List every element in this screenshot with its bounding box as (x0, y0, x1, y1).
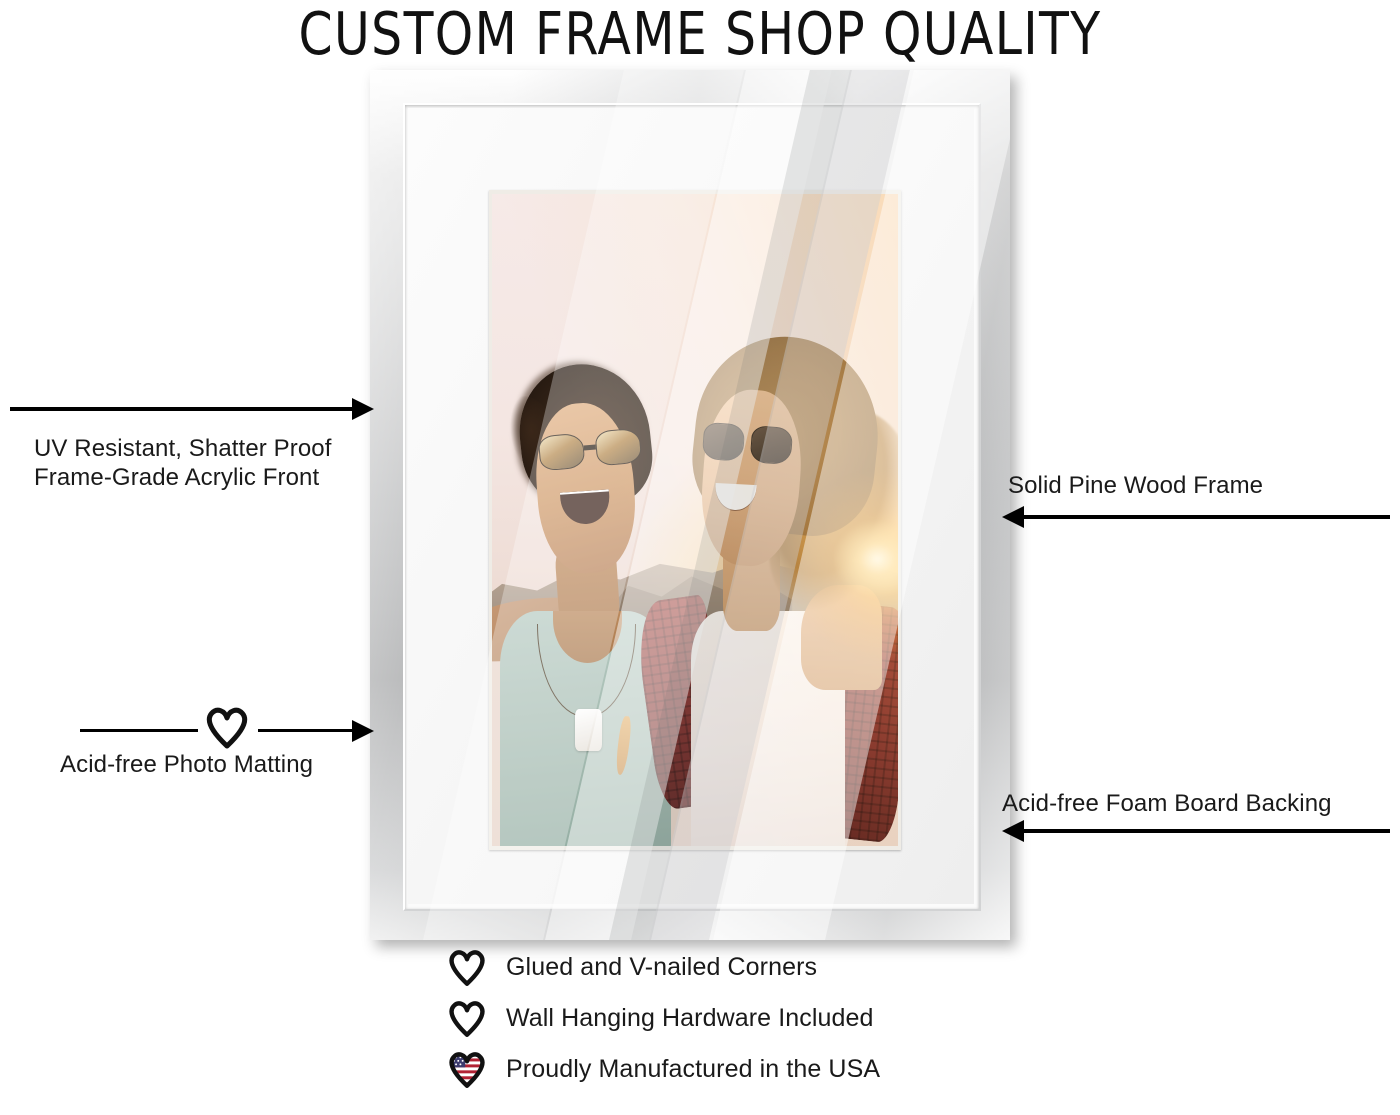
foam-board-backing-arrow-line (1024, 829, 1390, 833)
photo-warm-overlay (492, 194, 898, 846)
foam-board-backing-label: Acid-free Foam Board Backing (1002, 789, 1332, 819)
foam-board-backing-arrow-head (1002, 820, 1024, 842)
product-feature-infographic: CUSTOM FRAME SHOP QUALITY (0, 0, 1400, 1115)
feature-label: Proudly Manufactured in the USA (506, 1055, 880, 1084)
framed-photo-assembly (370, 70, 1010, 940)
feature-label: Wall Hanging Hardware Included (506, 1004, 874, 1033)
feature-item: Proudly Manufactured in the USA (446, 1046, 1006, 1093)
feature-label: Glued and V-nailed Corners (506, 953, 817, 982)
feature-item: Glued and V-nailed Corners (446, 944, 1006, 991)
acrylic-front-label-line1: UV Resistant, Shatter Proof (34, 434, 332, 464)
heart-usa-flag-icon (446, 1050, 490, 1090)
page-title: CUSTOM FRAME SHOP QUALITY (56, 2, 1344, 66)
acrylic-front-arrow-line (10, 407, 362, 411)
pine-wood-frame-arrow-line (1024, 515, 1390, 519)
photo-matting-label: Acid-free Photo Matting (60, 750, 313, 780)
photo-matting-arrow-head (352, 720, 374, 742)
pine-wood-frame-arrow-head (1002, 506, 1024, 528)
pine-wood-frame-label: Solid Pine Wood Frame (1008, 471, 1263, 501)
feature-list: Glued and V-nailed Corners Wall Hanging … (446, 944, 1006, 1097)
feature-item: Wall Hanging Hardware Included (446, 995, 1006, 1042)
acrylic-front-label-line2: Frame-Grade Acrylic Front (34, 463, 319, 493)
couple-sunset-photo (492, 194, 898, 846)
acrylic-front-arrow-head (352, 398, 374, 420)
heart-icon (446, 999, 490, 1039)
heart-icon (203, 706, 251, 755)
photo-matting-arrow-line-right (258, 729, 362, 732)
photo-matting-arrow-line-left (80, 729, 198, 732)
heart-icon (446, 948, 490, 988)
